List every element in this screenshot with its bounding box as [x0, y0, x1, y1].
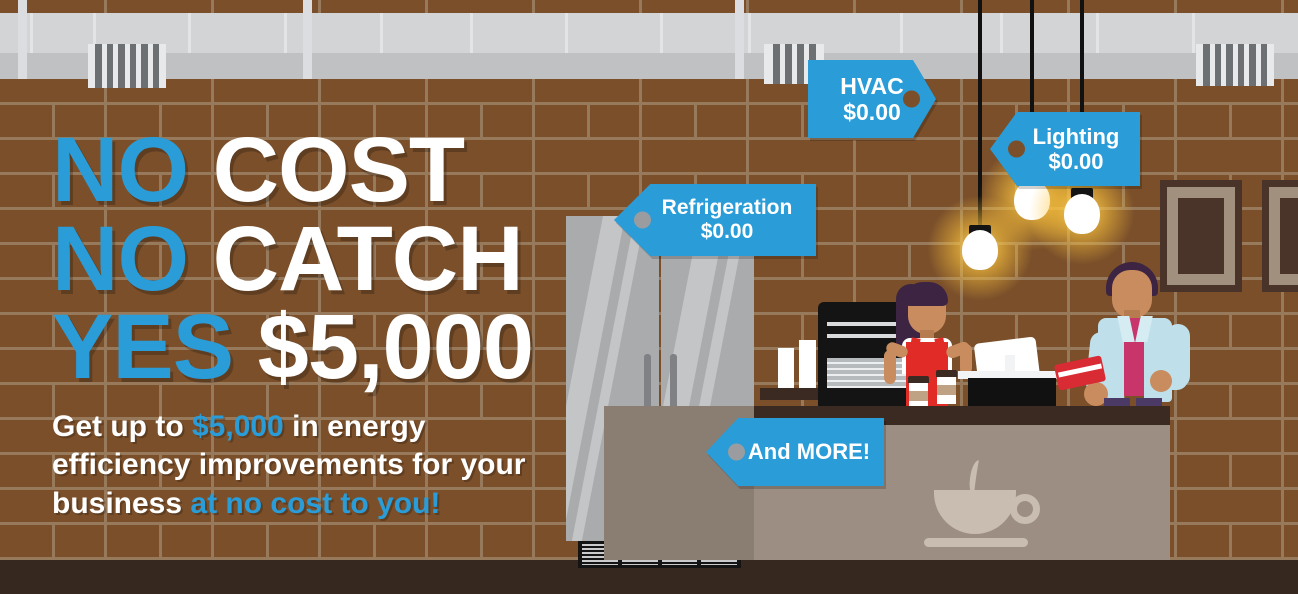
duct-seam — [660, 13, 663, 53]
price-tag-more[interactable]: And MORE! — [706, 418, 884, 486]
vent-slat — [141, 44, 148, 88]
vent-slat — [95, 44, 102, 88]
duct-seam — [1192, 13, 1195, 53]
duct-band — [18, 0, 27, 79]
tag-body: Lighting $0.00 — [990, 112, 1140, 186]
duct-seam — [284, 13, 287, 53]
duct-seam — [380, 13, 383, 53]
duct-seam — [1096, 13, 1099, 53]
bottle-1 — [778, 348, 794, 388]
light-bulb-3 — [1064, 194, 1100, 234]
vent-slat — [130, 44, 137, 88]
tag-label: Refrigeration $0.00 — [638, 196, 793, 244]
bottle-2 — [799, 340, 816, 388]
coffee-cup-graphic — [920, 460, 1050, 552]
tag-label: Lighting $0.00 — [1011, 124, 1120, 175]
headline-line-3: YES $5,000 — [52, 305, 572, 390]
duct-band — [735, 0, 744, 79]
price-tag-lighting[interactable]: Lighting $0.00 — [990, 112, 1140, 186]
tag-price: $0.00 — [840, 99, 903, 125]
vent-slat — [1238, 44, 1245, 86]
cup-saucer — [924, 538, 1028, 547]
customer-hand-right — [1150, 370, 1172, 392]
vent-slat — [118, 44, 125, 88]
vent-slat — [797, 44, 804, 84]
barista-arm-right-lower — [960, 344, 972, 374]
frame-art — [1280, 198, 1298, 274]
duct-seam — [900, 13, 903, 53]
wall-picture-frame-2 — [1262, 180, 1298, 292]
vent-slat — [1249, 44, 1256, 86]
headline-accent-3: YES — [52, 296, 233, 398]
tag-title: And MORE! — [748, 439, 870, 464]
vent-slat — [773, 44, 780, 84]
headline-main-2: CATCH — [213, 208, 523, 310]
tag-price: $0.00 — [662, 220, 793, 244]
cup-sleeve — [909, 391, 928, 401]
duct-seam — [188, 13, 191, 53]
duct-seam — [1000, 13, 1003, 53]
price-tag-refrigeration[interactable]: Refrigeration $0.00 — [614, 184, 816, 256]
subhead-closing: at no cost to you! — [190, 487, 440, 520]
vent-slat — [107, 44, 114, 88]
vent-slat — [1261, 44, 1268, 86]
duct-seam — [470, 13, 473, 53]
headline-main-3: $5,000 — [258, 296, 533, 398]
tag-body: HVAC $0.00 — [808, 60, 936, 138]
air-vent-grille-3 — [1196, 44, 1274, 86]
headline-accent-2: NO — [52, 208, 188, 310]
vent-slat — [1203, 44, 1210, 86]
tag-title: Lighting — [1033, 124, 1120, 149]
subheadline: Get up to $5,000 in energy efficiency im… — [52, 408, 572, 523]
promo-banner: HVAC $0.00 Lighting $0.00 Refrigeration … — [0, 0, 1298, 594]
vent-slat — [153, 44, 160, 88]
tag-body: And MORE! — [706, 418, 884, 486]
ceiling-duct — [0, 13, 1298, 79]
tag-label: HVAC $0.00 — [840, 73, 903, 126]
duct-seam — [748, 13, 751, 53]
duct-seam — [565, 13, 568, 53]
duct-band — [303, 0, 312, 79]
air-vent-grille-1 — [88, 44, 166, 88]
headline-accent-1: NO — [52, 119, 188, 221]
vent-slat — [1226, 44, 1233, 86]
duct-seam — [30, 13, 33, 53]
vent-slat — [785, 44, 792, 84]
price-tag-hvac[interactable]: HVAC $0.00 — [808, 60, 936, 138]
barista-hair-top — [904, 282, 948, 306]
tag-title: Refrigeration — [662, 196, 793, 219]
tag-body: Refrigeration $0.00 — [614, 184, 816, 256]
vent-slat — [1215, 44, 1222, 86]
tag-hole — [903, 91, 920, 108]
headline-line-2: NO CATCH — [52, 217, 572, 302]
cup-body — [934, 490, 1016, 534]
cup-lid — [936, 370, 957, 377]
takeaway-cup-1 — [908, 376, 929, 410]
headline-main-1: COST — [213, 119, 465, 221]
barista-arm-left-lower — [884, 350, 896, 384]
tag-title: HVAC — [840, 73, 903, 99]
pos-terminal-base — [968, 378, 1056, 406]
headline-block: NO COST NO CATCH YES $5,000 — [52, 128, 572, 390]
duct-upper-panel — [0, 13, 1298, 53]
duct-lower-panel — [0, 53, 1298, 79]
cup-sleeve — [937, 385, 956, 395]
takeaway-cup-2 — [936, 370, 957, 404]
headline-line-1: NO COST — [52, 128, 572, 213]
tag-price: $0.00 — [1033, 149, 1120, 174]
subhead-part-1: Get up to — [52, 410, 192, 443]
frame-mat — [1269, 187, 1298, 285]
subhead-amount: $5,000 — [192, 410, 284, 443]
cup-lid — [908, 376, 929, 383]
tag-label: And MORE! — [720, 439, 870, 464]
